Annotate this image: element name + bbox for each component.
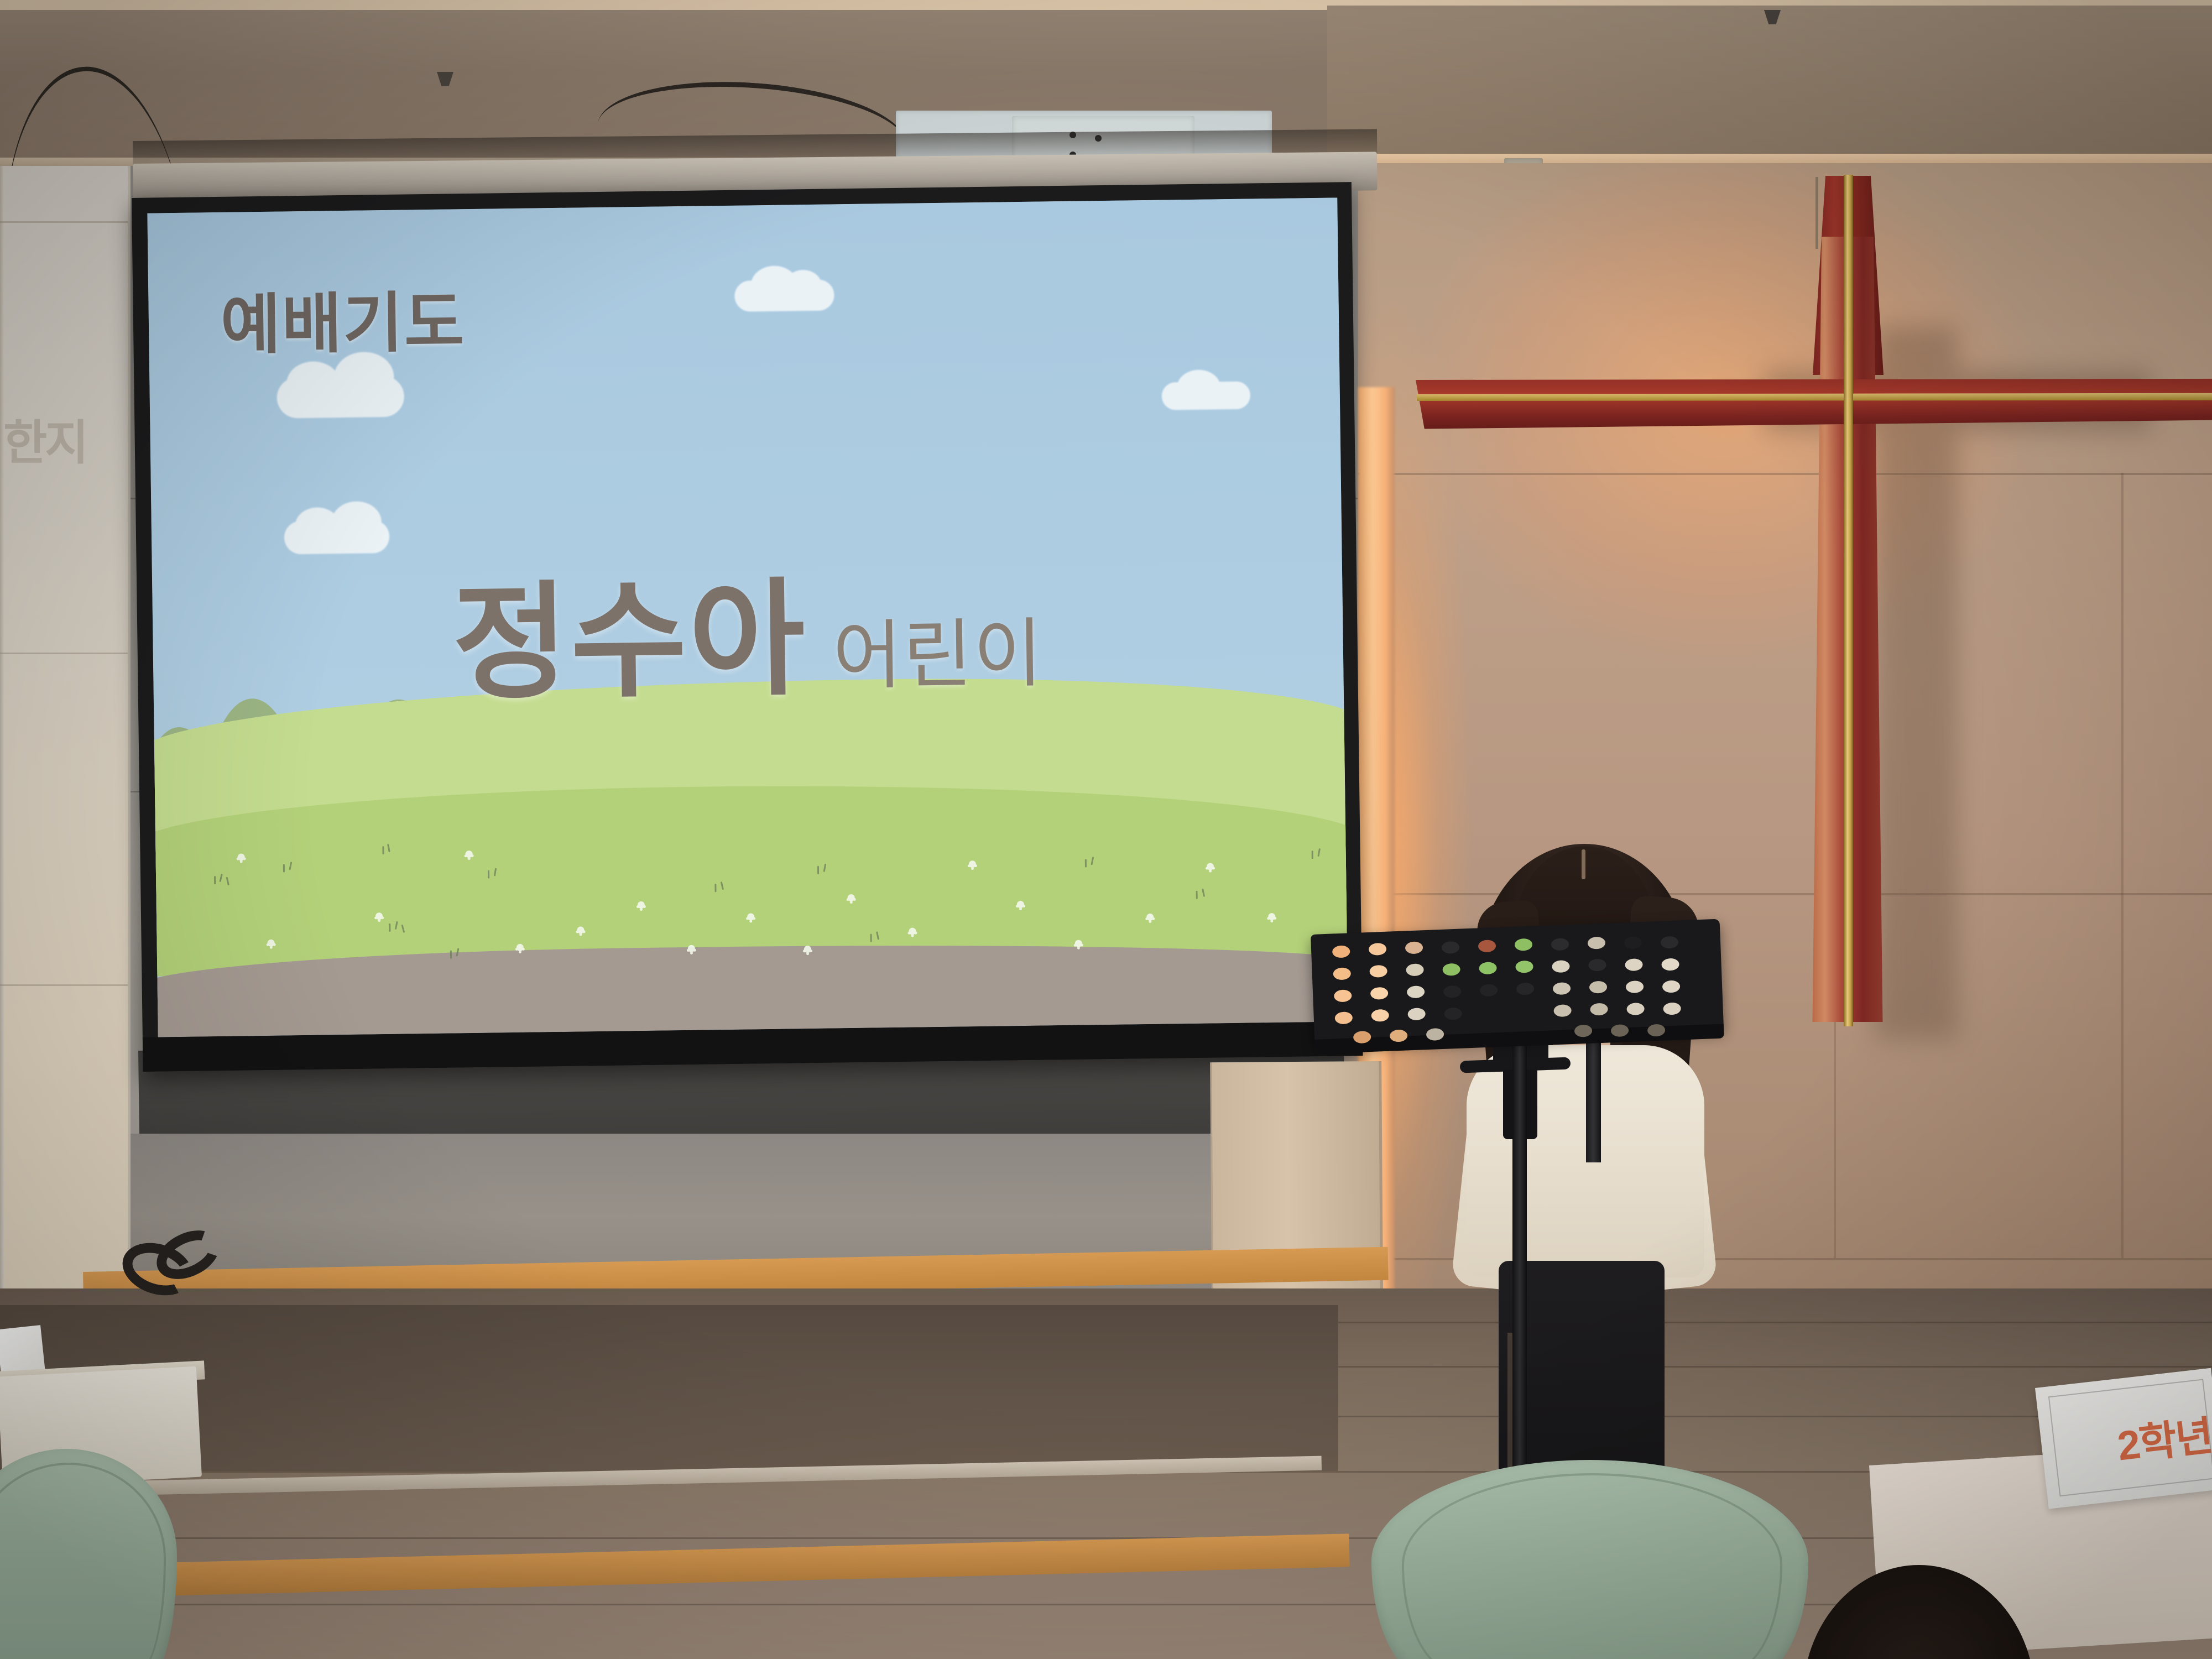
cloud-icon <box>276 376 404 419</box>
grade-sign-label: 2학년 <box>2039 1403 2212 1481</box>
music-stand-desk[interactable] <box>1311 919 1724 1045</box>
wall-cross-icon <box>1747 237 1958 1022</box>
stage-floor-shadow <box>0 1305 1338 1471</box>
ceiling-soffit-right <box>1327 6 2212 166</box>
child-speaker <box>1427 735 1736 1504</box>
projection-screen-surface: 예배기도 정수아 어린이 <box>147 197 1348 1037</box>
chair-center[interactable] <box>1371 1460 1808 1659</box>
grade-sign: 2학년 <box>2035 1368 2212 1509</box>
music-stand-post[interactable] <box>1512 1034 1527 1477</box>
slide-person-suffix: 어린이 <box>832 592 1044 704</box>
photo-scene: 한지 <box>0 0 2212 1659</box>
slide-center-text: 정수아 어린이 <box>152 529 1344 727</box>
slide-title: 예배기도 <box>220 269 466 367</box>
cloud-icon <box>1162 382 1251 410</box>
floor-cable-coil <box>122 1233 271 1300</box>
projection-screen: 예배기도 정수아 어린이 <box>132 182 1363 1072</box>
wall-ghost-text: 한지 <box>3 404 114 476</box>
cloud-icon <box>734 279 834 311</box>
sweatshirt <box>1467 1045 1704 1277</box>
slide-person-name: 정수아 <box>451 536 808 723</box>
left-wall-panel: 한지 <box>0 166 131 1327</box>
